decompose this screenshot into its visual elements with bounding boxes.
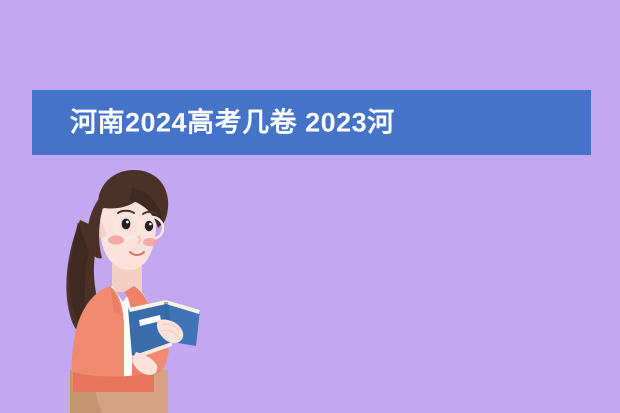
page-title: 河南2024高考几卷 2023河 [70,109,395,136]
title-banner: 河南2024高考几卷 2023河 [32,90,591,155]
page-root: 河南2024高考几卷 2023河 [0,0,620,413]
illustration-woman-reading [40,160,225,413]
